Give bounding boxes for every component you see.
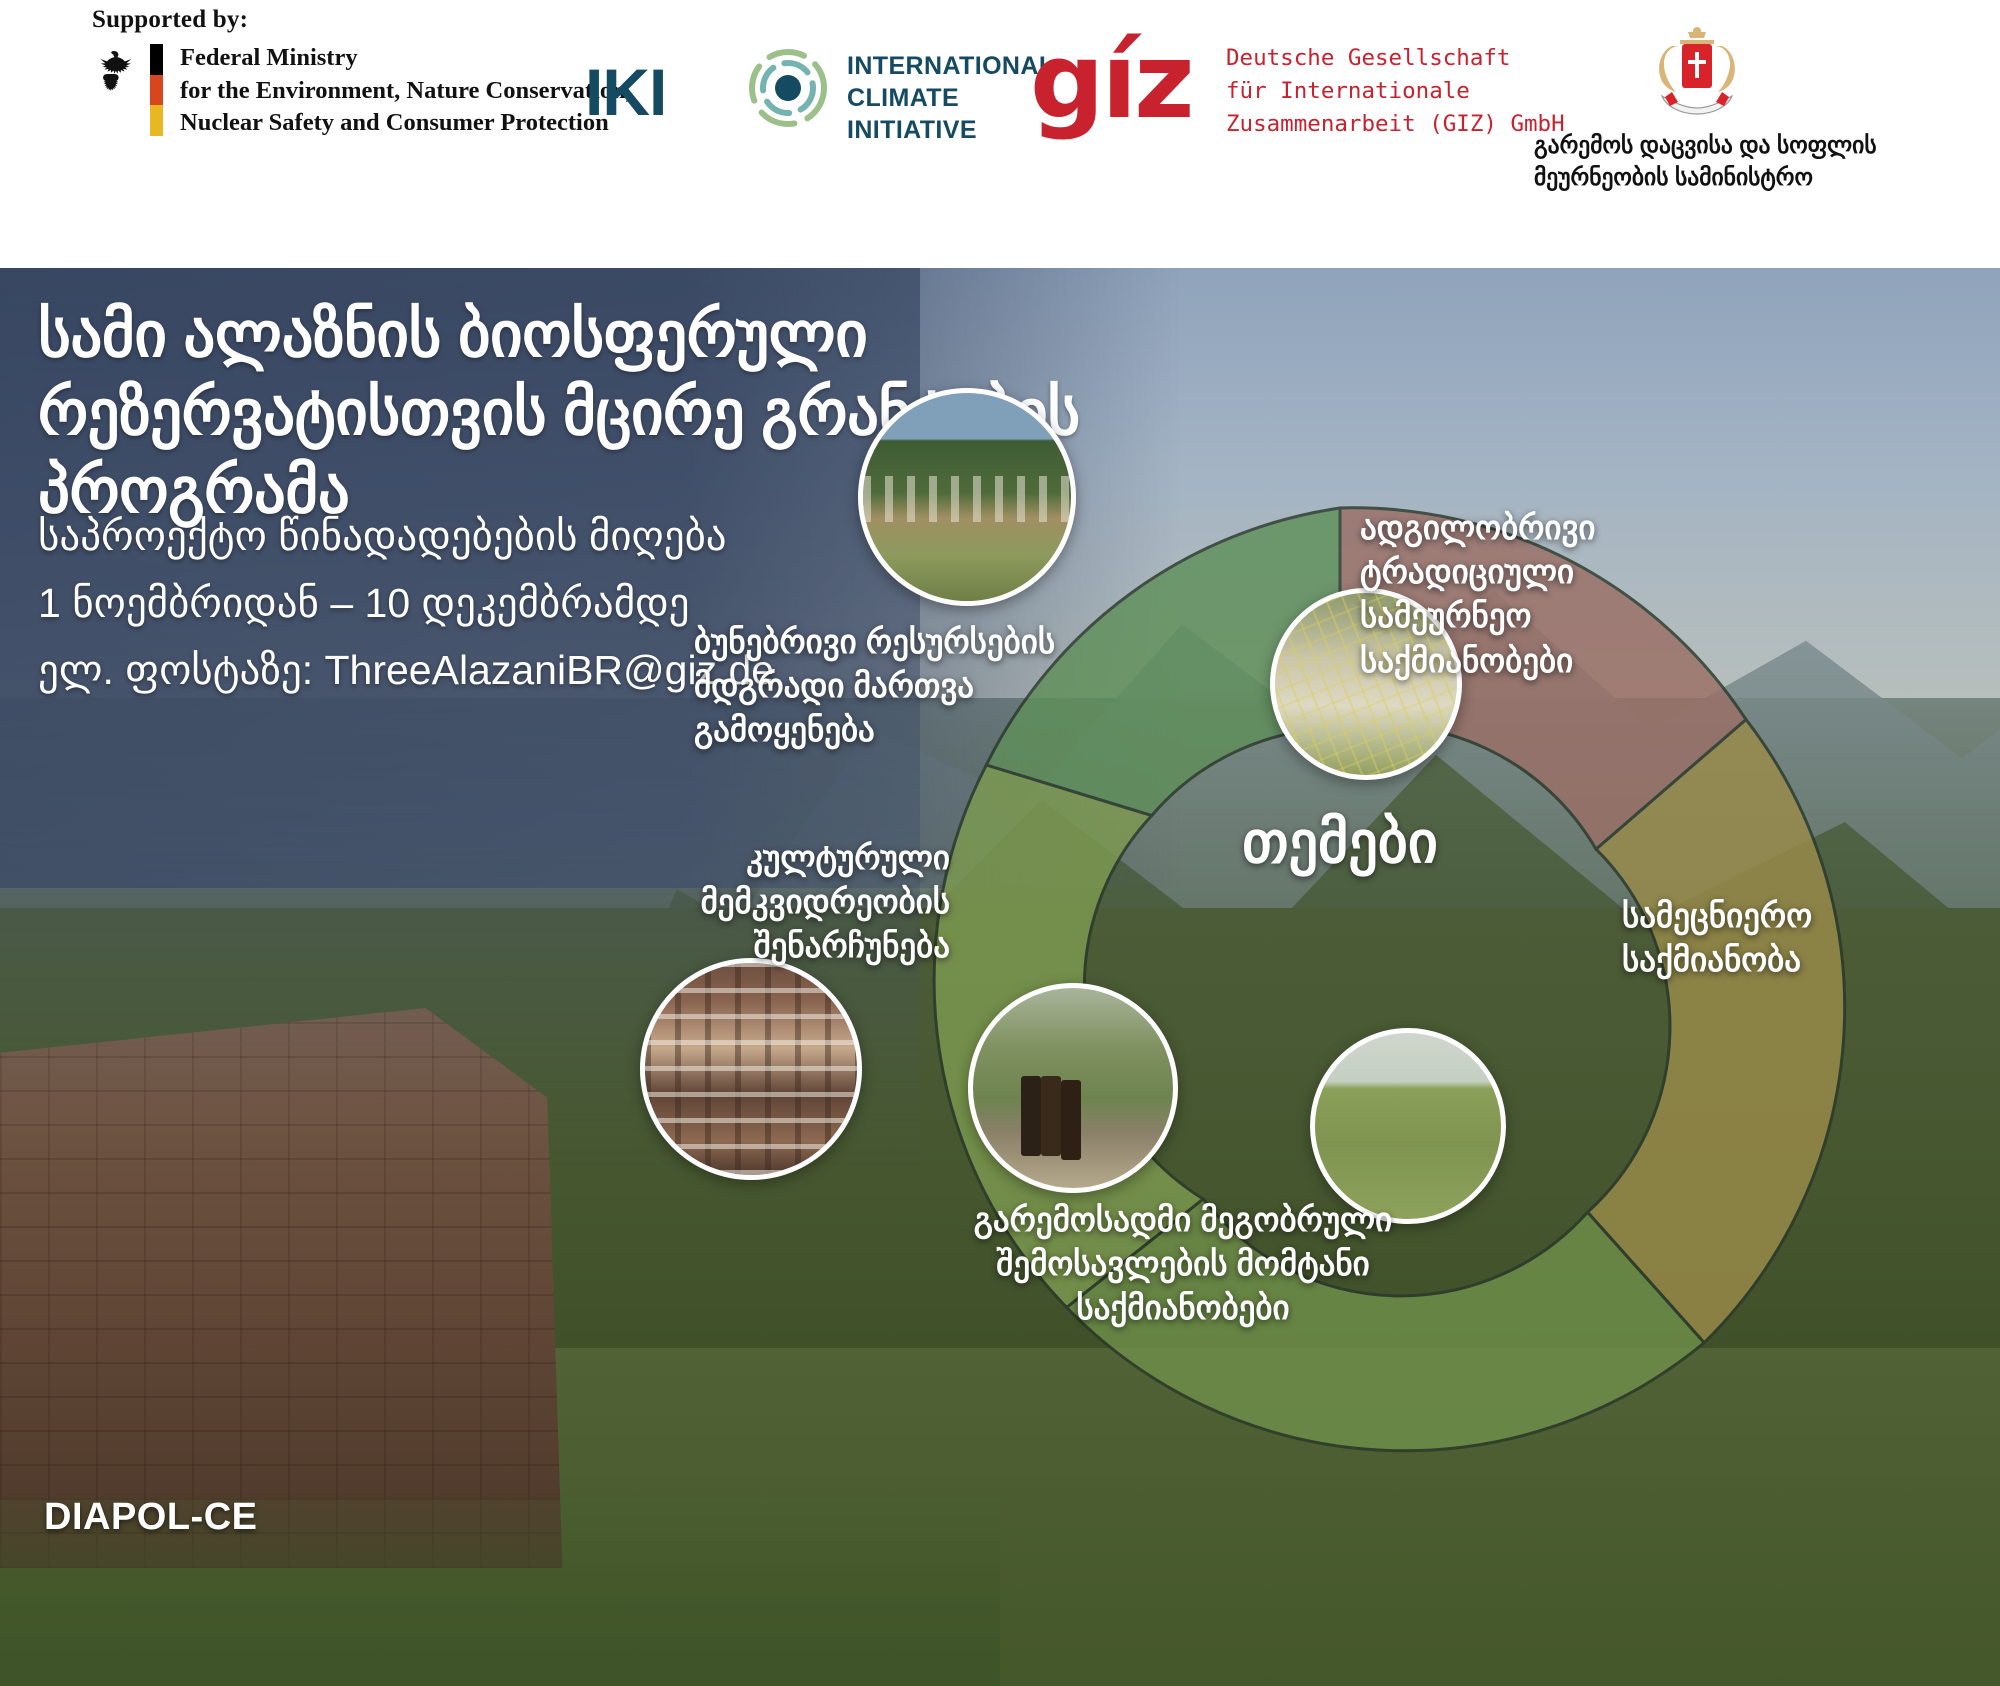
wheel-center-label: თემები (1170, 808, 1510, 876)
iki-circle-mark-icon (748, 48, 828, 128)
supported-by-label: Supported by: (92, 6, 248, 34)
giz-logo: gíz Deutsche Gesellschaftfür Internation… (1030, 34, 1510, 134)
wheel-label-cultural-heritage: კულტურულიმემკვიდრეობისშენარჩუნება (590, 836, 950, 969)
carpet-textile-photo (640, 958, 862, 1180)
themes-wheel: თემები ბუნებრივი რესურსებისმდგრადი მართვ… (700, 298, 2000, 1686)
wheel-label-local-traditional: ადგილობრივიტრადიციული სამეურნეოსაქმიანობ… (1360, 506, 1690, 683)
wheel-label-scientific: სამეცნიეროსაქმიანობა (1622, 894, 1902, 982)
bmu-name: Federal Ministryfor the Environment, Nat… (180, 42, 632, 140)
georgia-coat-of-arms-icon (1642, 26, 1752, 122)
german-flag-bar (150, 44, 163, 136)
iki-wordmark: IKI (585, 54, 666, 130)
poster-root: Supported by: Federal Ministryfor the En… (0, 0, 2000, 1686)
iki-logo: IKI INTERNATIONALCLIMATEINITIATIVE (585, 42, 985, 128)
iki-name: INTERNATIONALCLIMATEINITIATIVE (847, 50, 1055, 146)
georgia-ministry-name: გარემოს დაცვისა და სოფლისმეურნეობის სამი… (1512, 130, 1982, 193)
poster-main: სამი ალაზნის ბიოსფერული რეზერვატისთვის მ… (0, 268, 2000, 1686)
georgia-ministry-logo: გარემოს დაცვისა და სოფლისმეურნეობის სამი… (1512, 26, 1982, 246)
german-federal-eagle-icon (88, 48, 140, 104)
donor-header: Supported by: Federal Ministryfor the En… (0, 0, 2000, 268)
bmu-logo: Federal Ministryfor the Environment, Nat… (88, 44, 518, 136)
field-research-photo (1310, 1028, 1506, 1224)
giz-wordmark: gíz (1030, 20, 1192, 142)
diapol-ce-logo: DIAPOL-CE (44, 1496, 258, 1539)
wine-products-photo (968, 983, 1178, 1193)
village-landscape-photo (858, 388, 1076, 606)
wheel-label-eco-income: გარემოსადმი მეგობრულიშემოსავლების მომტან… (958, 1198, 1408, 1331)
wheel-label-nature-resources: ბუნებრივი რესურსებისმდგრადი მართვაგამოყე… (694, 620, 1094, 753)
